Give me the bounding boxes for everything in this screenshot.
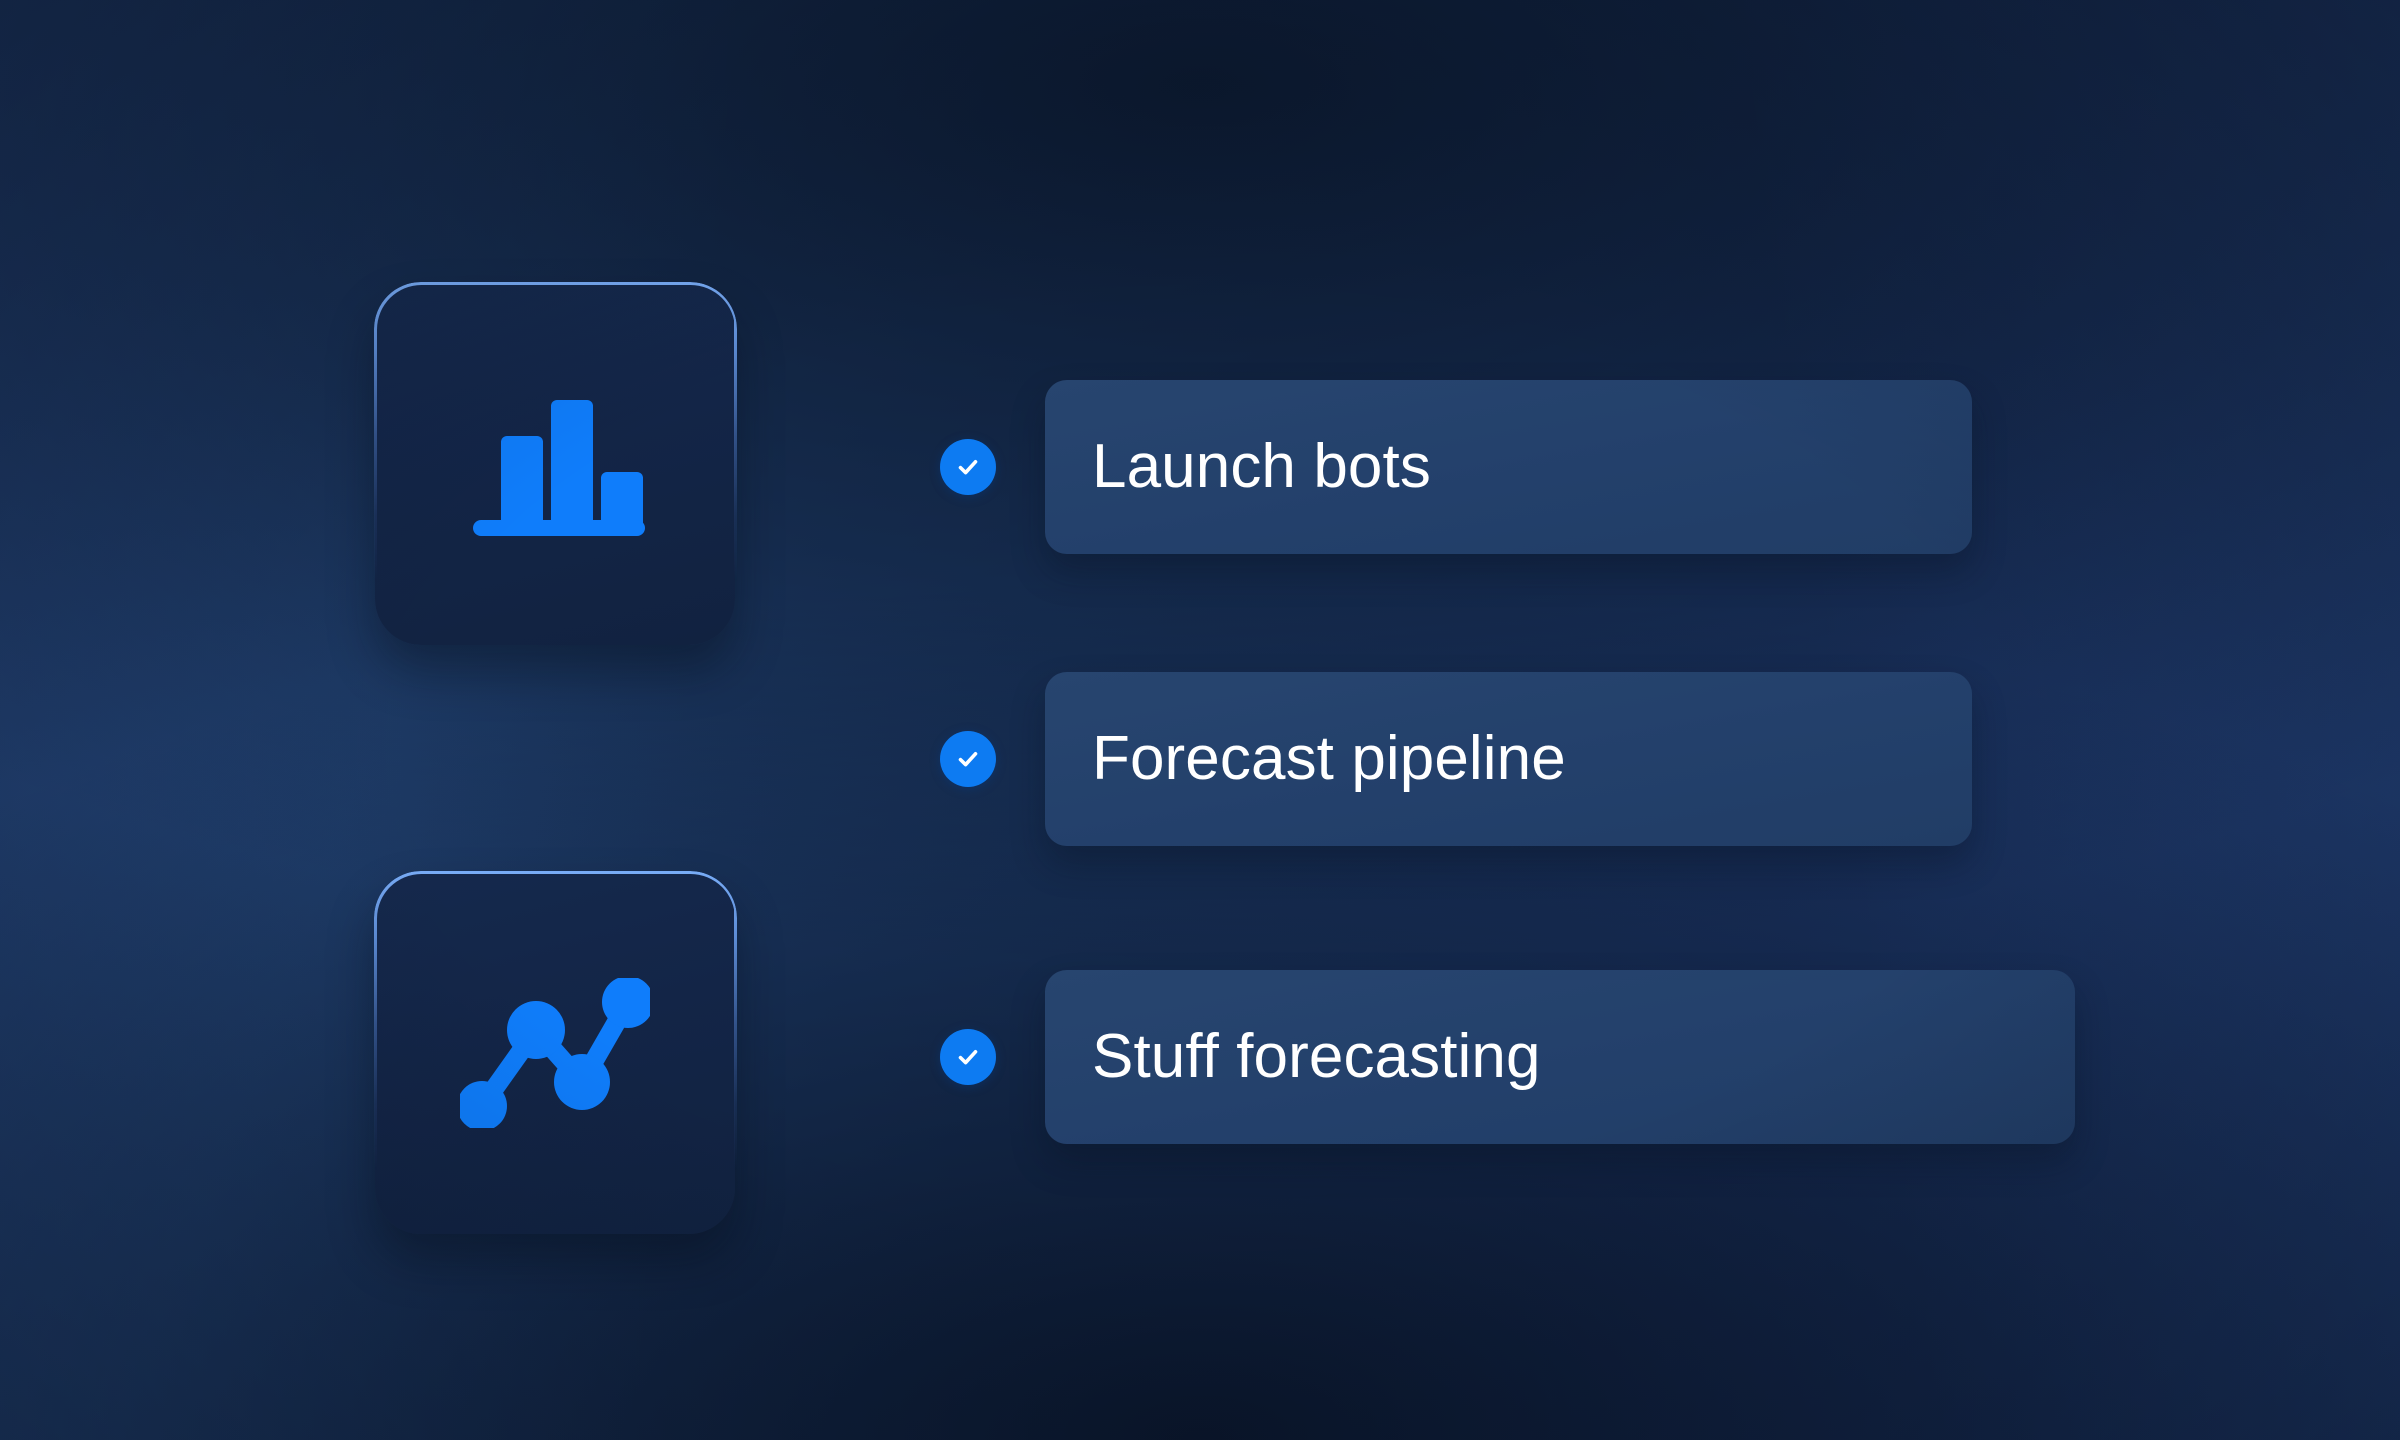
task-card[interactable]: Stuff forecasting — [1045, 970, 2075, 1144]
task-row[interactable]: Forecast pipeline — [940, 672, 1972, 846]
check-icon[interactable] — [940, 439, 996, 495]
check-icon[interactable] — [940, 1029, 996, 1085]
task-label: Forecast pipeline — [1092, 728, 1566, 790]
task-row[interactable]: Launch bots — [940, 380, 1972, 554]
task-card[interactable]: Launch bots — [1045, 380, 1972, 554]
bar-chart-tile[interactable] — [375, 283, 735, 645]
canvas: Launch bots Forecast pipeline Stuff fore… — [0, 0, 2400, 1440]
task-label: Launch bots — [1092, 436, 1431, 498]
task-label: Stuff forecasting — [1092, 1026, 1541, 1088]
check-icon[interactable] — [940, 731, 996, 787]
task-row[interactable]: Stuff forecasting — [940, 970, 2075, 1144]
line-chart-icon — [375, 872, 735, 1234]
bar-chart-icon — [375, 283, 735, 645]
task-card[interactable]: Forecast pipeline — [1045, 672, 1972, 846]
line-chart-tile[interactable] — [375, 872, 735, 1234]
